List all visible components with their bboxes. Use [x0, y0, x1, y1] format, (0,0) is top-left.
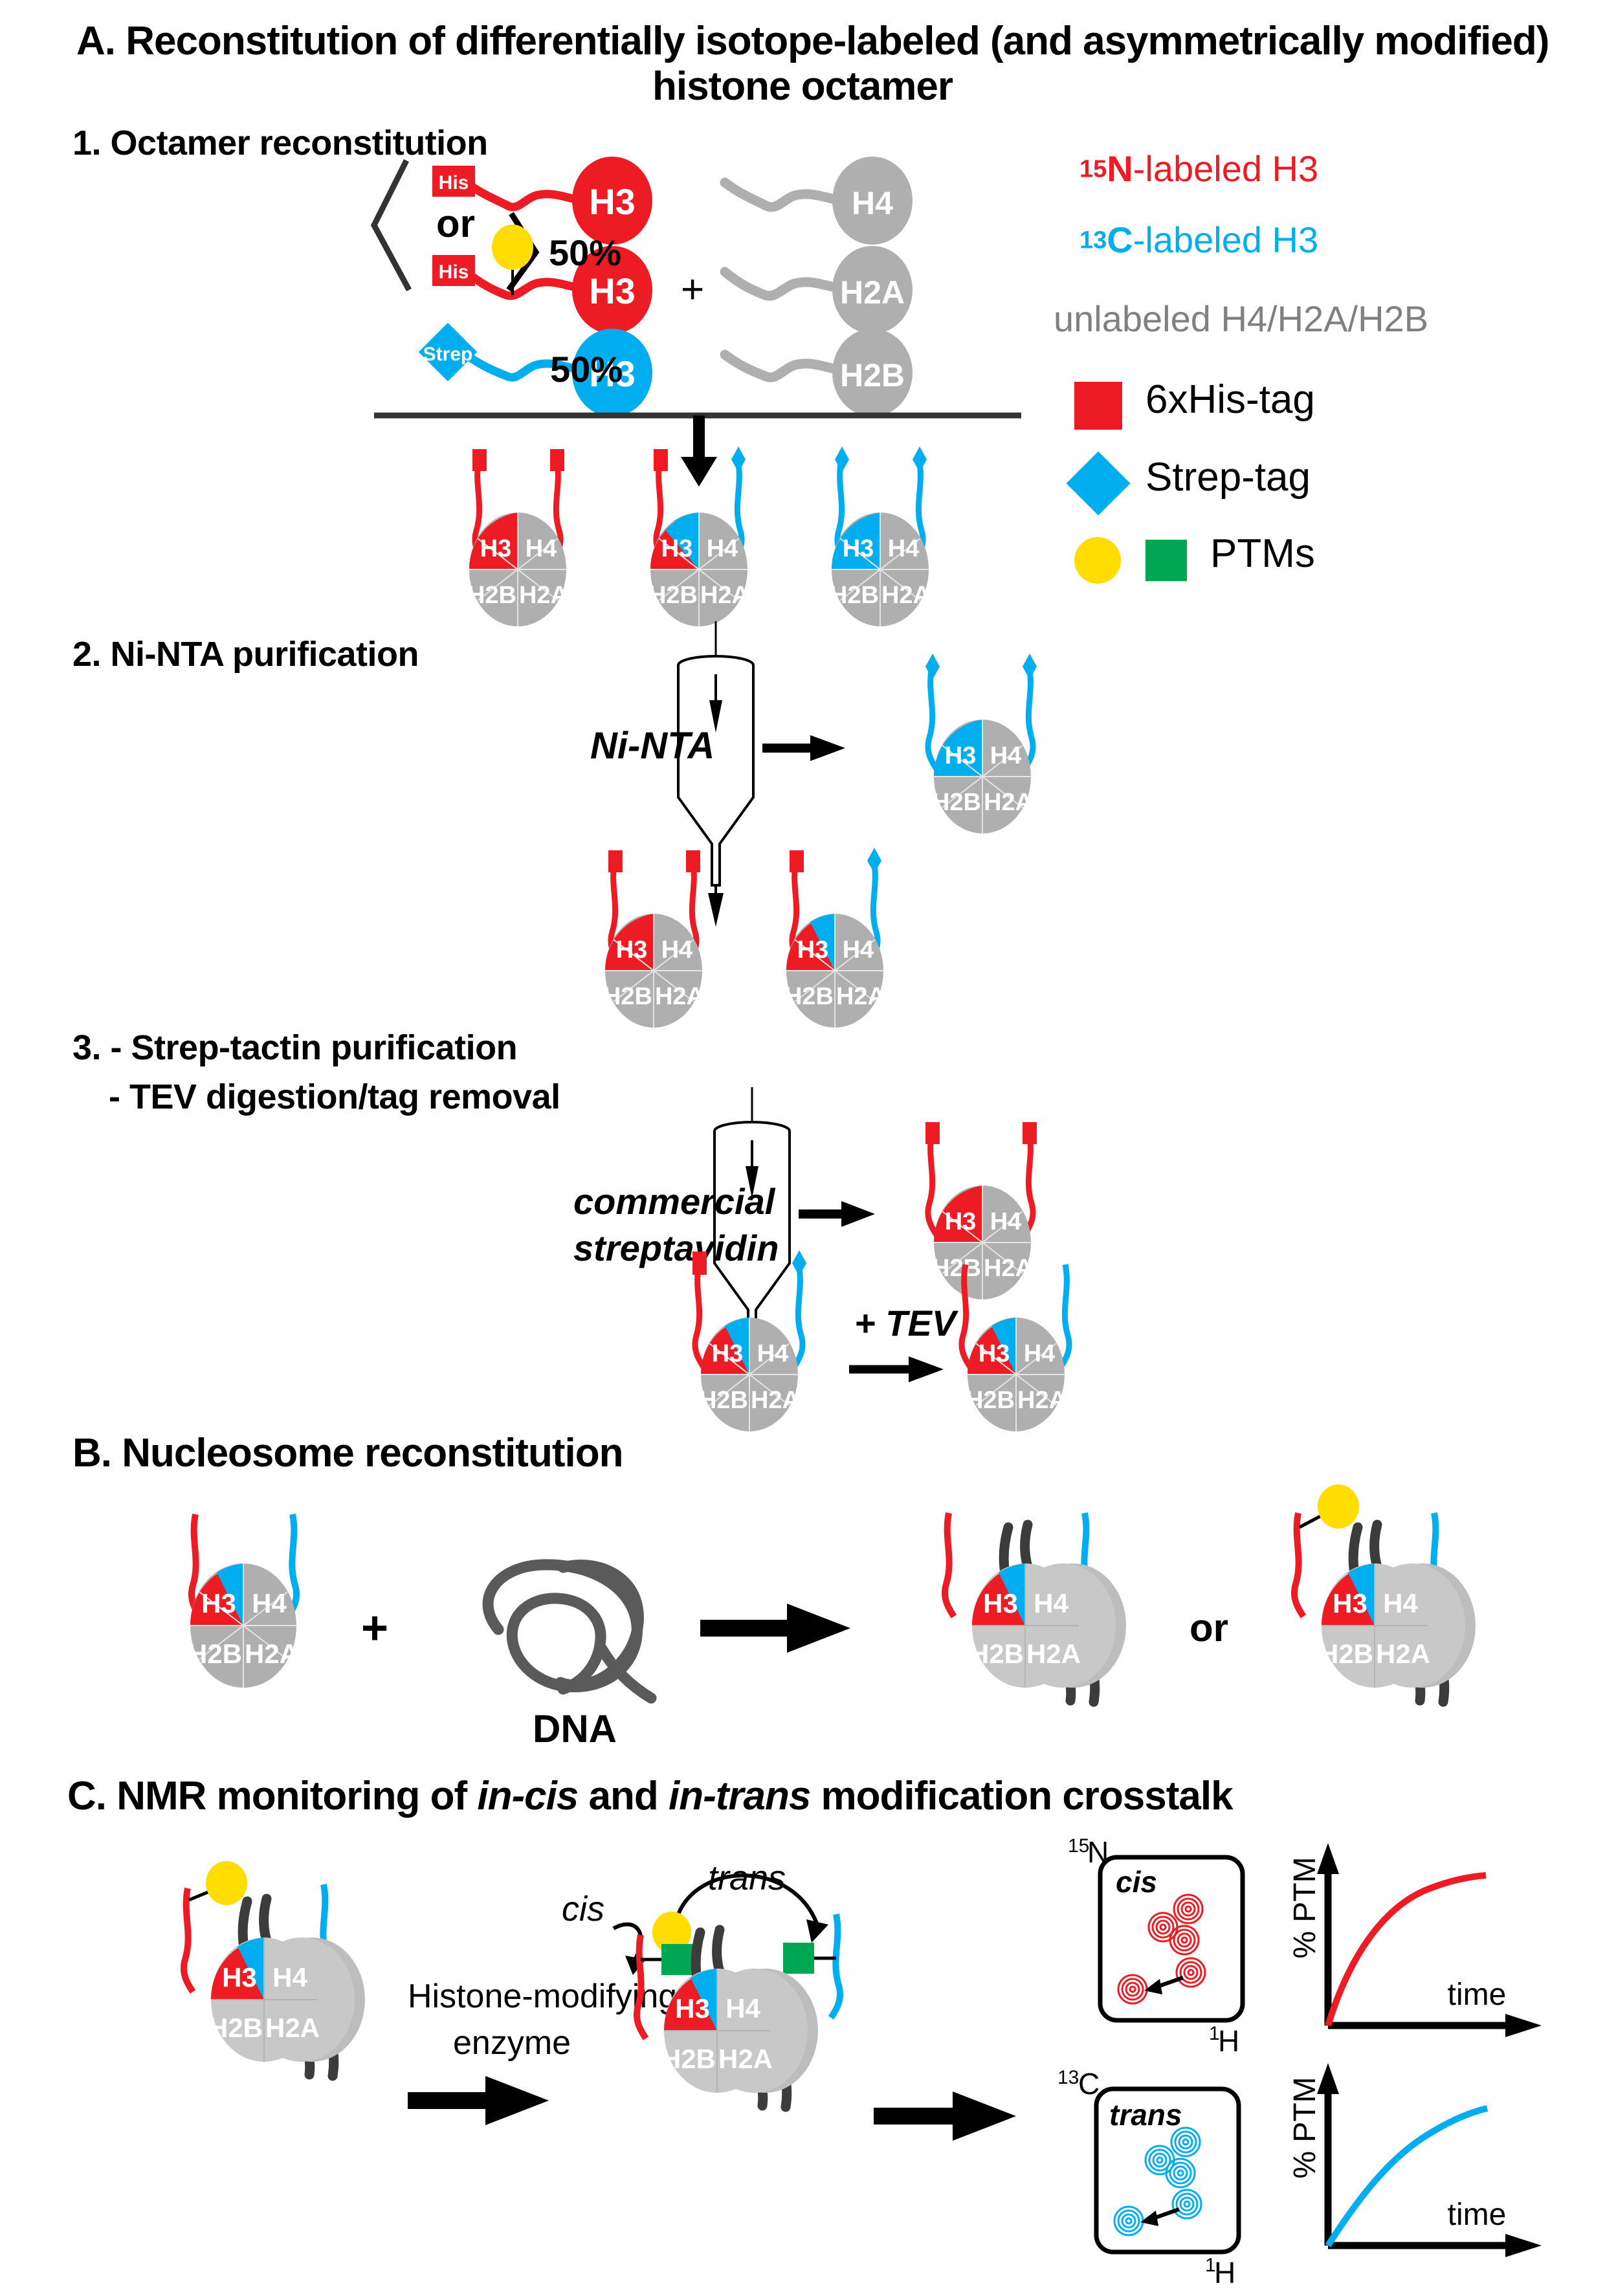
panelB-graphic: H3 H4 H2B H2A + DNA H3 H4 [110, 1488, 1573, 1760]
pb-n1-h4-label: H4 [1034, 1588, 1068, 1618]
panelC-nucleosome-start: H3 H4 H2B H2A [184, 1861, 365, 2076]
s2a-h2a-label: H2A [655, 983, 704, 1010]
trans-x-axis-element: H [1214, 2256, 1235, 2290]
panel-c-title-incis: in-cis [477, 1774, 578, 1818]
tev-label: + TEV [854, 1303, 959, 1343]
panelB-free-octamer: H3 H4 H2B H2A [188, 1514, 299, 1688]
ptm-yellow-circle-icon-pb2 [1318, 1485, 1359, 1529]
h3-red-label-1: H3 [589, 181, 636, 222]
cis-plot-xlabel: time [1448, 1978, 1507, 2012]
legend-13c-text: -labeled H3 [1133, 219, 1318, 260]
his-tag-icon-s3-right [1023, 1122, 1037, 1144]
strep-tag-icon-s2b-right [867, 848, 881, 874]
cis-peak-5 [1118, 1975, 1147, 2003]
ptm-circle-icon [1074, 537, 1121, 584]
step1-graphic: His H3 or His H3 50% Strep H3 50% + H4 [362, 149, 1048, 421]
tev-b-h3-label: H3 [979, 1340, 1010, 1367]
tev-arrow-icon [909, 1356, 944, 1382]
step-2-title: 2. Ni-NTA purification [72, 634, 419, 674]
octamer-s3-untagged: H3 H4 H2B H2A [962, 1264, 1069, 1431]
ni-nta-column-label: Ni-NTA [590, 725, 714, 767]
oct3-h2a-label: H2A [881, 582, 931, 609]
pc1-h2a-label: H2A [265, 2013, 320, 2043]
cis-peak-4 [1177, 1958, 1205, 1987]
oct1-h2b-label: H2B [467, 582, 516, 609]
h4-grey-label: H4 [852, 185, 893, 221]
legend-unlabeled-text: unlabeled H4/H2A/H2B [1054, 298, 1428, 339]
trans-peak-3 [1166, 2159, 1195, 2187]
x-axis-arrowhead-trans [1505, 2234, 1542, 2257]
pct-50-top-label: 50% [549, 232, 621, 273]
pb-h2a-label: H2A [245, 1639, 299, 1669]
legend-13c-superscript: 13 [1079, 227, 1107, 254]
cis-peak-1 [1174, 1895, 1202, 1923]
s2-h2a-label: H2A [984, 789, 1033, 816]
octamer-s2-red-red: H3 H4 H2B H2A [603, 850, 704, 1028]
legend-strep-label: Strep-tag [1146, 454, 1311, 500]
tev-b-h2a-label: H2A [1017, 1387, 1067, 1414]
step-3-title-line2: - TEV digestion/tag removal [109, 1077, 560, 1117]
strep-tag-label: Strep [423, 344, 473, 365]
s3-h4-label: H4 [990, 1208, 1022, 1235]
trans-plot-ylabel: % PTM [1288, 2077, 1322, 2178]
panel-c-title: C. NMR monitoring of in-cis and in-trans… [67, 1773, 1233, 1819]
strep-tag-icon-s2-right [1023, 654, 1037, 679]
panelB-plus-label: + [361, 1602, 388, 1654]
oct1-h4-label: H4 [526, 535, 557, 562]
tev-a-h2b-label: H2B [699, 1387, 748, 1414]
panelB-nucleosome-1: H3 H4 H2B H2A [945, 1513, 1126, 1702]
legend-15n-text: -labeled H3 [1133, 148, 1318, 189]
pc2-h4-label: H4 [725, 1993, 760, 2024]
oct1-h3-label: H3 [480, 535, 512, 562]
strep-tag-icon-oct3-right [913, 447, 927, 472]
his-tag-icon-s2b-left [790, 850, 804, 872]
cis-plot-ylabel: % PTM [1288, 1857, 1322, 1958]
panel-c-title-pre: C. NMR monitoring of [67, 1774, 477, 1818]
step2-bound-octamers: H3 H4 H2B H2A H3 H4 H2B H2A [582, 848, 984, 1048]
strep-tag-icon-oct2-right [731, 447, 746, 472]
nmr-spectrum-trans: 13 C trans 1 H [1054, 2050, 1274, 2296]
trans-plot-xlabel: time [1448, 2198, 1507, 2232]
streptavidin-column-label-line1: commercial [573, 1181, 776, 1222]
panel-a-title-line2-wrap: histone octamer [0, 63, 1605, 109]
legend-his-label: 6xHis-tag [1146, 377, 1315, 423]
panelB-or-label: or [1190, 1606, 1228, 1650]
pc2-h3-label: H3 [675, 1993, 710, 2024]
ptm-green-square-icon-cis [661, 1944, 692, 1975]
his-tag-icon-s3-left [925, 1122, 940, 1144]
trans-y-axis-element: C [1078, 2067, 1100, 2101]
trans-y-axis-superscript: 13 [1057, 2067, 1079, 2088]
elution-arrow-icon [810, 735, 845, 761]
legend-item-15n: 15N-labeled H3 [1079, 148, 1318, 190]
his-tag-icon-s2a-left [608, 850, 623, 872]
cis-peaks [1118, 1895, 1205, 2003]
dna-scribble-icon [488, 1565, 651, 1698]
trans-peak-5 [1114, 2207, 1143, 2235]
elution-arrow-icon-s3 [841, 1201, 875, 1227]
trans-peaks [1114, 2128, 1201, 2235]
pb-h3-label: H3 [201, 1588, 236, 1618]
his-tag-icon-oct1-left [472, 449, 487, 471]
panel-c-title-mid: and [578, 1774, 669, 1818]
x-axis-arrowhead-cis [1505, 2014, 1542, 2037]
plus-label-step1: + [681, 267, 704, 312]
legend-item-unlabeled: unlabeled H4/H2A/H2B [1054, 298, 1428, 340]
pb-n2-h3-label: H3 [1333, 1588, 1367, 1618]
h3-red-tail-1: His [432, 166, 576, 207]
legend-ptms-label: PTMs [1210, 531, 1315, 577]
s2a-h2b-label: H2B [603, 983, 652, 1010]
s2b-h2b-label: H2B [784, 983, 834, 1010]
or-bracket-icon [374, 160, 409, 290]
his-tag-icon-s2a-right [686, 850, 700, 872]
s3-h3-label: H3 [945, 1208, 977, 1235]
tev-b-h2b-label: H2B [966, 1387, 1015, 1414]
oct2-h4-label: H4 [707, 535, 738, 562]
octamer-cyan-cyan: H3 H4 H2B H2A [830, 447, 931, 626]
his-tag-icon-tev-left [692, 1252, 707, 1275]
step-3-title-line1: 3. - Strep-tactin purification [72, 1028, 517, 1068]
pb-h2b-label: H2B [188, 1639, 242, 1669]
panel-c-title-post: modification crosstalk [810, 1774, 1232, 1818]
legend-13c-element: C [1107, 219, 1133, 260]
step2-cyancyan-octamer: H3 H4 H2B H2A [887, 647, 1081, 861]
strep-tag-icon-oct3-left [835, 447, 849, 472]
octamer-s2-red-cyan: H3 H4 H2B H2A [784, 848, 885, 1028]
cis-label: cis [562, 1890, 604, 1928]
legend-item-13c: 13C-labeled H3 [1079, 219, 1318, 261]
oct3-h3-label: H3 [843, 535, 874, 562]
pc2-h2a-label: H2A [718, 2044, 773, 2074]
pb-n1-h2a-label: H2A [1026, 1639, 1081, 1669]
octamer-disc-s2: H3 H4 H2B H2A [932, 720, 1033, 833]
pc1-h4-label: H4 [272, 1962, 307, 1992]
s2a-h3-label: H3 [616, 936, 648, 964]
panelB-nucleosome-2: H3 H4 H2B H2A [1294, 1485, 1476, 1702]
h3-red-label-2: H3 [589, 270, 636, 311]
kinetics-plot-cis: % PTM time [1288, 1831, 1573, 2058]
legend-15n-element: N [1107, 148, 1133, 189]
oct2-h3-label: H3 [661, 535, 693, 562]
cis-peak-2 [1149, 1913, 1177, 1941]
octamer-disc-2: H3 H4 H2B H2A [648, 513, 749, 626]
panel-a-title-line2: histone octamer [652, 64, 953, 109]
octamer-red-cyan: H3 H4 H2B H2A [648, 447, 749, 626]
s2b-h2a-label: H2A [836, 983, 885, 1010]
oct2-h2b-label: H2B [648, 582, 698, 609]
strep-tag-icon-s2-left [925, 654, 940, 679]
oct2-h2a-label: H2A [700, 582, 749, 609]
s2-h2b-label: H2B [932, 789, 981, 816]
tev-a-h2a-label: H2A [751, 1387, 800, 1414]
trans-peak-4 [1173, 2190, 1201, 2218]
tev-a-h4-label: H4 [757, 1340, 789, 1367]
ptm-square-icon [1146, 540, 1187, 581]
strep-tag-icon-tev-right [792, 1250, 806, 1276]
pb-n2-h4-label: H4 [1383, 1588, 1418, 1618]
h3-red-protein-1: H3 [572, 157, 652, 245]
oct1-h2a-label: H2A [519, 582, 568, 609]
cis-shift-arrow-icon [1144, 1978, 1183, 1994]
trans-label: trans [708, 1859, 786, 1897]
pb-n2-h2b-label: H2B [1319, 1639, 1373, 1669]
enzyme-arrow-icon [408, 2076, 549, 2125]
tev-a-h3-label: H3 [712, 1340, 744, 1367]
ptm-yellow-circle-icon [492, 225, 533, 270]
pc1-h3-label: H3 [222, 1962, 257, 1992]
pc1-h2b-label: H2B [208, 2013, 263, 2043]
pb-n1-h3-label: H3 [983, 1588, 1018, 1618]
h2b-grey-label: H2B [840, 357, 905, 393]
pb-h4-label: H4 [252, 1588, 287, 1618]
h2a-grey-protein: H2A [725, 246, 913, 334]
legend-15n-superscript: 15 [1079, 156, 1107, 183]
panel-b-title: B. Nucleosome reconstitution [72, 1430, 623, 1476]
trans-peak-1 [1171, 2128, 1200, 2156]
trans-spectrum-title: trans [1109, 2098, 1182, 2132]
enzyme-label-line2: enzyme [453, 2024, 571, 2062]
cis-spectrum-title: cis [1116, 1865, 1157, 1899]
s2-h3-label: H3 [945, 742, 977, 769]
s2-h4-label: H4 [990, 742, 1022, 769]
s2b-h4-label: H4 [843, 936, 874, 964]
panelC-to-spectra-arrow-icon [874, 2092, 1016, 2141]
his-tag-label-2: His [439, 261, 469, 283]
his-tag-icon-oct1-right [550, 449, 564, 471]
h4-grey-protein: H4 [725, 157, 913, 245]
step3-tev-row: H3 H4 H2B H2A + TEV H3 H4 H2B H2A [667, 1249, 1133, 1437]
octamer-s3-tagged: H3 H4 H2B H2A [692, 1250, 806, 1431]
panelB-reaction-arrow-icon [700, 1604, 850, 1653]
oct3-h4-label: H4 [888, 535, 920, 562]
pct-50-bottom-label: 50% [550, 349, 623, 390]
trans-shift-arrow-icon [1140, 2209, 1179, 2226]
h2b-grey-protein: H2B [725, 329, 913, 417]
dna-label: DNA [533, 1707, 617, 1750]
tev-b-h4-label: H4 [1024, 1340, 1056, 1367]
his-tag-icon-oct2-left [654, 449, 668, 471]
h2a-grey-label: H2A [840, 274, 905, 311]
octamer-disc-3: H3 H4 H2B H2A [830, 513, 931, 626]
kinetics-plot-trans: % PTM time [1288, 2051, 1573, 2278]
his-tag-swatch-icon [1074, 382, 1122, 430]
panel-a-title: A. Reconstitution of differentially isot… [76, 18, 1549, 64]
s2b-h3-label: H3 [797, 936, 829, 964]
panel-a-title-line1: A. Reconstitution of differentially isot… [76, 19, 1549, 63]
cis-y-axis-superscript: 15 [1068, 1835, 1089, 1857]
pc2-h2b-label: H2B [661, 2044, 716, 2074]
nmr-spectrum-cis: 15 N cis 1 H [1061, 1825, 1275, 2064]
octamer-red-red: H3 H4 H2B H2A [467, 449, 568, 626]
ptm-green-square-icon-trans [783, 1943, 814, 1974]
step1-octamer-products: H3 H3 H4 H2B H2A [447, 440, 990, 628]
ptm-yellow-circle-icon-c1 [206, 1861, 247, 1905]
pb-n1-h2b-label: H2B [969, 1639, 1024, 1669]
oct3-h2b-label: H2B [830, 582, 879, 609]
his-tag-label-1: His [439, 172, 469, 193]
cis-peak-3 [1170, 1926, 1199, 1954]
pb-n2-h2a-label: H2A [1376, 1639, 1430, 1669]
s2a-h4-label: H4 [661, 936, 693, 964]
or-label-step1: or [436, 202, 475, 245]
strep-tag-diamond-icon [1067, 452, 1131, 516]
octamer-disc-1: H3 H4 H2B H2A [467, 513, 568, 626]
panel-c-title-intrans: in-trans [669, 1774, 810, 1818]
